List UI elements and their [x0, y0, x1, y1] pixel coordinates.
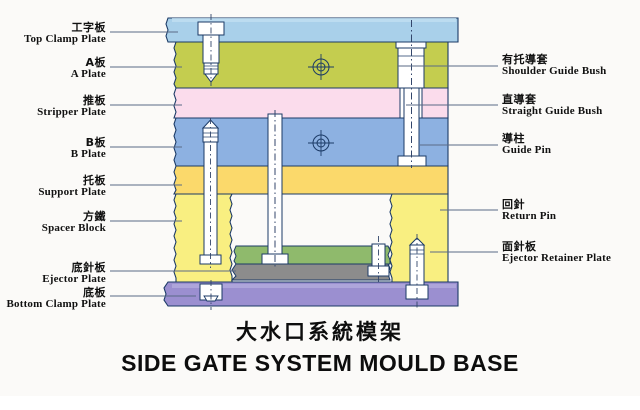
- title-en: SIDE GATE SYSTEM MOULD BASE: [0, 350, 640, 377]
- label-cn: 導柱: [502, 133, 640, 145]
- label-en: Bottom Clamp Plate: [0, 299, 106, 311]
- label-en: Shoulder Guide Bush: [502, 66, 640, 78]
- label-en: Return Pin: [502, 211, 640, 223]
- plate-ejector-retainer: [234, 246, 390, 264]
- label-spacer-block: 方鐵 Spacer Block: [0, 211, 106, 234]
- label-b-plate: B板 B Plate: [0, 137, 106, 160]
- label-cn: 面針板: [502, 241, 640, 253]
- label-ejector-retainer-plate: 面針板 Ejector Retainer Plate: [502, 241, 640, 264]
- diagram-page: 工字板 Top Clamp Plate A板 A Plate 推板 Stripp…: [0, 0, 640, 410]
- label-guide-pin: 導柱 Guide Pin: [502, 133, 640, 156]
- label-cn: A板: [0, 57, 106, 69]
- label-en: Spacer Block: [0, 223, 106, 235]
- spacer-block-left: [174, 194, 232, 282]
- label-cn: 托板: [0, 175, 106, 187]
- title-block: 大水口系統模架 SIDE GATE SYSTEM MOULD BASE: [0, 316, 640, 377]
- label-en: Guide Pin: [502, 145, 640, 157]
- label-en: Support Plate: [0, 187, 106, 199]
- title-cn: 大水口系統模架: [0, 316, 640, 346]
- label-return-pin: 回針 Return Pin: [502, 199, 640, 222]
- label-en: A Plate: [0, 69, 106, 81]
- label-ejector-plate: 底針板 Ejector Plate: [0, 262, 106, 285]
- label-cn: 工字板: [0, 22, 106, 34]
- label-cn: 底針板: [0, 262, 106, 274]
- label-a-plate: A板 A Plate: [0, 57, 106, 80]
- label-bottom-clamp-plate: 底板 Bottom Clamp Plate: [0, 287, 106, 310]
- label-cn: 有托導套: [502, 54, 640, 66]
- label-cn: B板: [0, 137, 106, 149]
- label-straight-guide-bush: 直導套 Straight Guide Bush: [502, 94, 640, 117]
- label-cn: 直導套: [502, 94, 640, 106]
- label-en: Straight Guide Bush: [502, 106, 640, 118]
- label-en: Stripper Plate: [0, 107, 106, 119]
- label-cn: 方鐵: [0, 211, 106, 223]
- label-cn: 推板: [0, 95, 106, 107]
- label-shoulder-guide-bush: 有托導套 Shoulder Guide Bush: [502, 54, 640, 77]
- label-en: Ejector Retainer Plate: [502, 253, 640, 265]
- plate-ejector: [232, 264, 390, 280]
- label-cn: 底板: [0, 287, 106, 299]
- label-stripper-plate: 推板 Stripper Plate: [0, 95, 106, 118]
- label-en: Ejector Plate: [0, 274, 106, 286]
- label-cn: 回針: [502, 199, 640, 211]
- label-top-clamp-plate: 工字板 Top Clamp Plate: [0, 22, 106, 45]
- label-support-plate: 托板 Support Plate: [0, 175, 106, 198]
- label-en: Top Clamp Plate: [0, 34, 106, 46]
- label-en: B Plate: [0, 149, 106, 161]
